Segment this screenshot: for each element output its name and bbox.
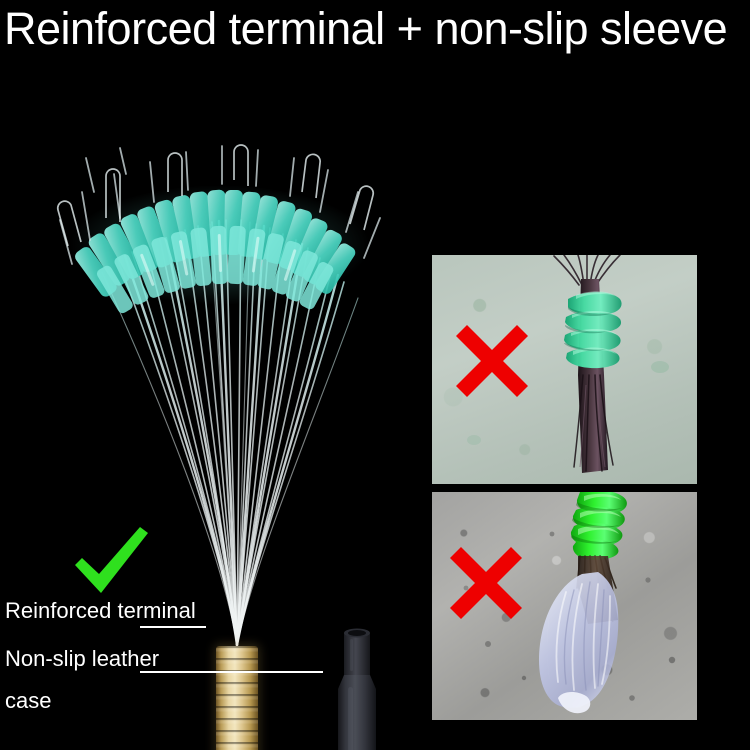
callout-reinforced-terminal: Reinforced terminal [5,598,196,624]
black-non-slip-sleeve [330,627,394,750]
callout-non-slip-leather: Non-slip leather [5,646,159,672]
page-title: Reinforced terminal + non-slip sleeve [4,4,750,54]
brass-reinforced-terminal [216,646,258,750]
green-check-icon [72,525,150,597]
red-x-icon [450,547,522,619]
leader-line-terminal [140,626,206,628]
red-x-icon [456,325,528,397]
comparison-panel-plastic-bag [432,492,697,720]
comparison-panel-green-tape [432,255,697,484]
product-image-canvas: Reinforced terminal + non-slip sleeve [0,0,750,750]
callout-case: case [5,688,51,714]
leader-line-sleeve [140,671,323,673]
